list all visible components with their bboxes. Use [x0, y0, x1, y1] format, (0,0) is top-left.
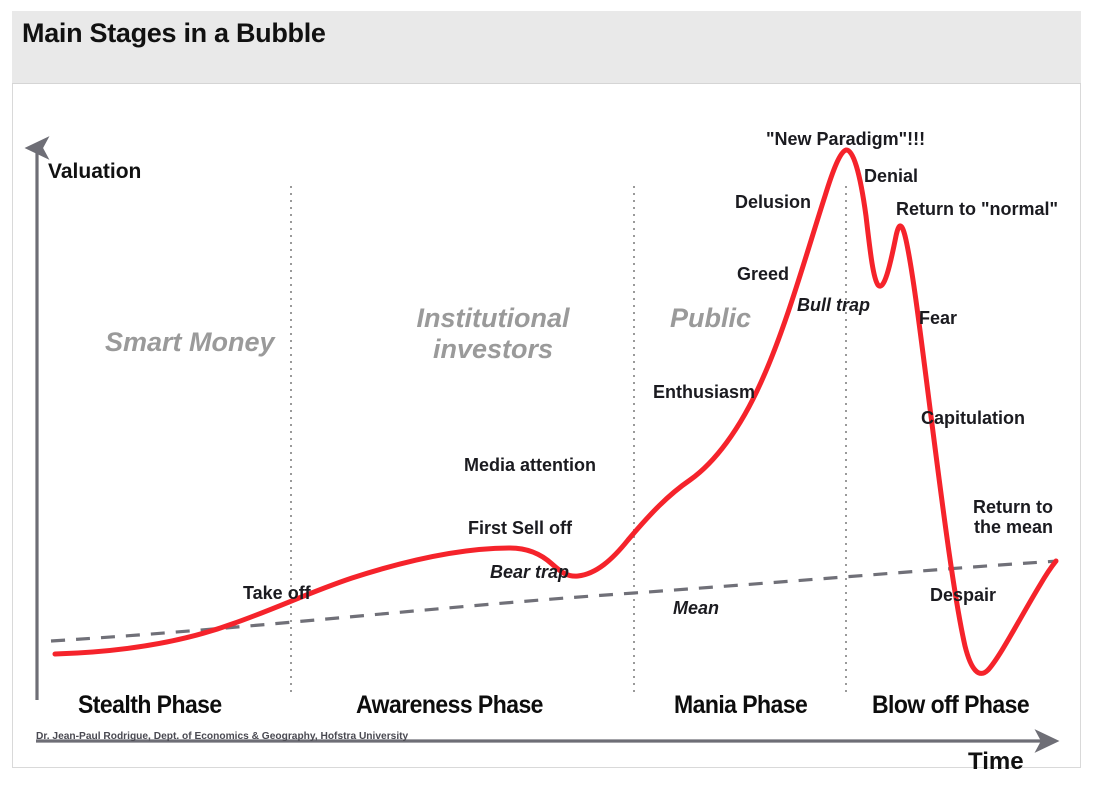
annotation-media-attention: Media attention	[464, 455, 596, 475]
actor-label-smart-money: Smart Money	[105, 327, 275, 358]
page-title: Main Stages in a Bubble	[22, 18, 326, 49]
actor-label-institutional-investors: Institutional investors	[383, 303, 603, 365]
y-axis-label: Valuation	[48, 160, 141, 184]
annotation-despair: Despair	[930, 585, 996, 605]
annotation-return-to-the-mean-line2: the mean	[974, 517, 1053, 537]
x-axis-label: Time	[968, 748, 1024, 776]
annotation-fear: Fear	[919, 308, 957, 328]
actor-label-line1: Institutional	[417, 303, 570, 333]
annotation-new-paradigm: "New Paradigm"!!!	[766, 129, 925, 149]
actor-label-line2: investors	[433, 334, 553, 364]
annotation-return-to-the-mean-line1: Return to	[973, 497, 1053, 517]
phase-label-mania: Mania Phase	[674, 691, 807, 720]
annotation-capitulation: Capitulation	[921, 408, 1025, 428]
annotation-denial: Denial	[864, 166, 918, 186]
credit-line: Dr. Jean-Paul Rodrigue, Dept. of Economi…	[36, 730, 408, 742]
figure-card	[12, 11, 1081, 768]
annotation-return-to-normal: Return to "normal"	[896, 199, 1058, 219]
phase-label-awareness: Awareness Phase	[356, 691, 543, 720]
annotation-bear-trap: Bear trap	[490, 562, 569, 582]
annotation-bull-trap: Bull trap	[797, 295, 870, 315]
annotation-greed: Greed	[737, 264, 789, 284]
actor-label-public: Public	[670, 303, 751, 334]
annotation-take-off: Take off	[243, 583, 311, 603]
annotation-enthusiasm: Enthusiasm	[653, 382, 755, 402]
annotation-first-sell-off: First Sell off	[468, 518, 572, 538]
bubble-stages-figure: Main Stages in a Bubble Valuation Time S…	[0, 0, 1093, 793]
annotation-delusion: Delusion	[735, 192, 811, 212]
phase-label-stealth: Stealth Phase	[78, 691, 222, 720]
phase-label-blowoff: Blow off Phase	[872, 691, 1029, 720]
annotation-return-to-the-mean: Return to the mean	[963, 497, 1053, 537]
annotation-mean: Mean	[673, 598, 719, 618]
